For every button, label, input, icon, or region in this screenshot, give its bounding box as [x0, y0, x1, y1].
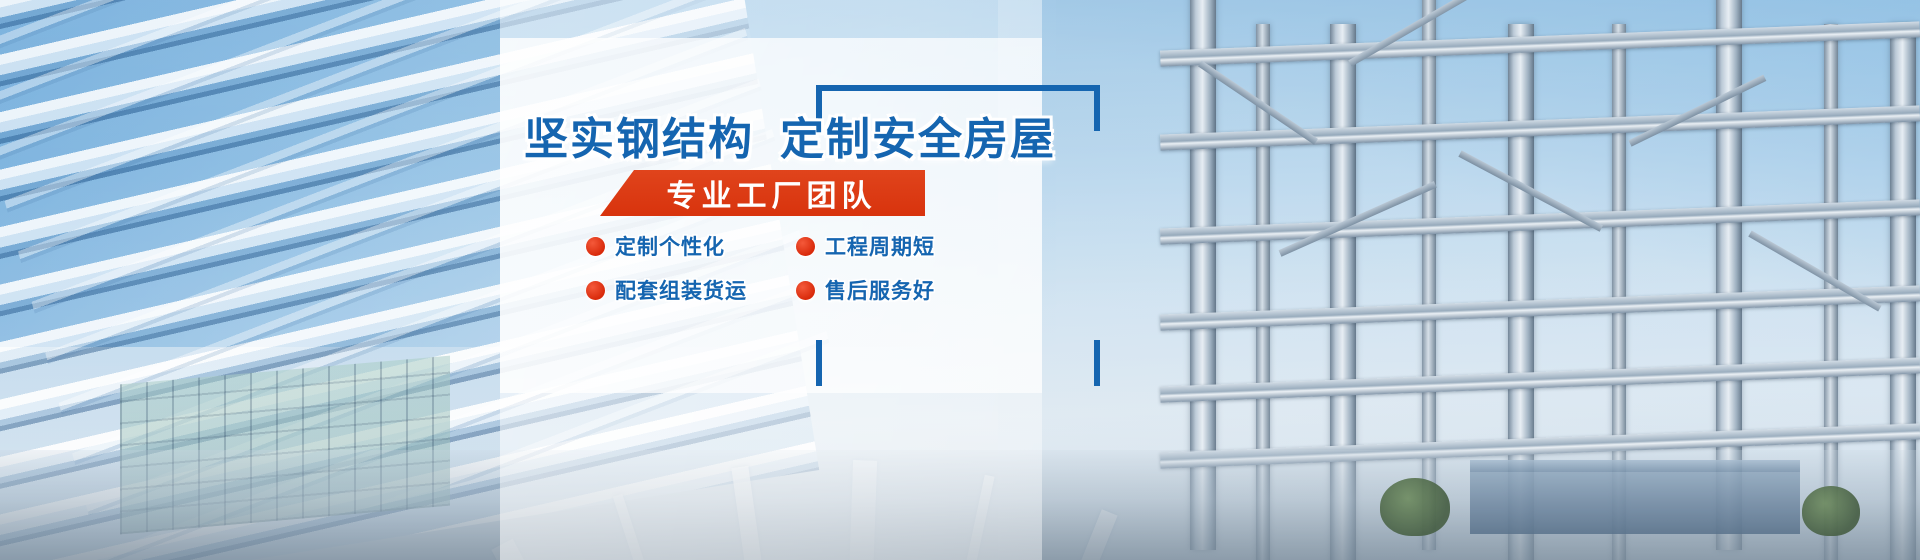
- feature-list: 定制个性化 工程周期短 配套组装货运 售后服务好: [586, 226, 996, 310]
- feature-item-2: 配套组装货运: [586, 270, 786, 310]
- red-dot-icon: [796, 281, 815, 300]
- red-dot-icon: [796, 237, 815, 256]
- feature-label-1: 工程周期短: [825, 231, 935, 261]
- headline-part-2: 定制安全房屋: [780, 115, 1056, 164]
- feature-label-2: 配套组装货运: [615, 275, 747, 305]
- red-dot-icon: [586, 281, 605, 300]
- hero-banner: 坚实钢结构定制安全房屋 专业工厂团队 定制个性化 工程周期短 配套组装货运 售后…: [0, 0, 1920, 560]
- ribbon-badge: 专业工厂团队: [600, 170, 925, 216]
- bracket-bottom-decoration: [816, 340, 1100, 386]
- feature-item-0: 定制个性化: [586, 226, 786, 266]
- red-dot-icon: [586, 237, 605, 256]
- headline-part-1: 坚实钢结构: [524, 115, 754, 164]
- feature-label-3: 售后服务好: [825, 275, 935, 305]
- headline: 坚实钢结构定制安全房屋: [524, 118, 1054, 162]
- feature-item-3: 售后服务好: [796, 270, 996, 310]
- ribbon-label: 专业工厂团队: [600, 170, 925, 216]
- feature-label-0: 定制个性化: [615, 231, 725, 261]
- feature-item-1: 工程周期短: [796, 226, 996, 266]
